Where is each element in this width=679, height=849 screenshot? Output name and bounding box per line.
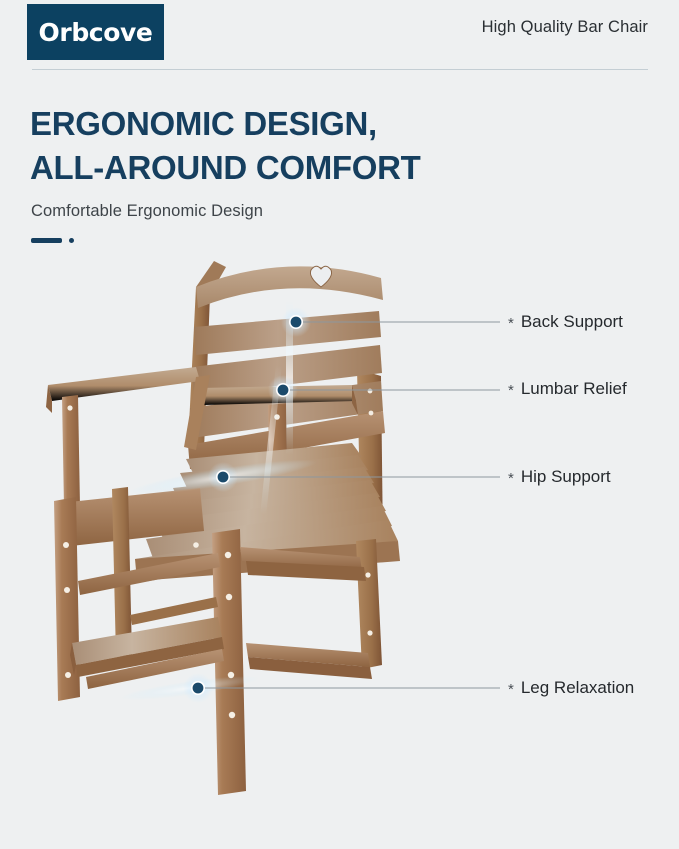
callout-hip-support: * Hip Support [508, 467, 611, 487]
page-subtitle: Comfortable Ergonomic Design [31, 202, 263, 221]
callout-label-text: Lumbar Relief [521, 379, 627, 399]
callout-lumbar-relief: * Lumbar Relief [508, 379, 627, 399]
page-title: ERGONOMIC DESIGN, ALL-AROUND COMFORT [30, 102, 630, 190]
callout-label-text: Back Support [521, 312, 623, 332]
product-category-title: High Quality Bar Chair [482, 18, 648, 37]
callout-back-support: * Back Support [508, 312, 623, 332]
asterisk-icon: * [508, 471, 514, 486]
page-header: Orbcove High Quality Bar Chair [0, 0, 679, 72]
page-title-line-2: ALL-AROUND COMFORT [30, 146, 630, 190]
page-title-line-1: ERGONOMIC DESIGN, [30, 105, 377, 142]
accent-dash [31, 238, 62, 243]
callout-label-text: Leg Relaxation [521, 678, 634, 698]
asterisk-icon: * [508, 383, 514, 398]
brand-logo: Orbcove [27, 4, 164, 60]
brand-logo-text: Orbcove [39, 18, 153, 47]
callout-leg-relaxation: * Leg Relaxation [508, 678, 634, 698]
accent-rule [31, 237, 77, 244]
asterisk-icon: * [508, 682, 514, 697]
product-image [0, 245, 500, 825]
accent-dot [69, 238, 74, 243]
header-divider [32, 69, 648, 70]
callout-label-text: Hip Support [521, 467, 611, 487]
asterisk-icon: * [508, 316, 514, 331]
